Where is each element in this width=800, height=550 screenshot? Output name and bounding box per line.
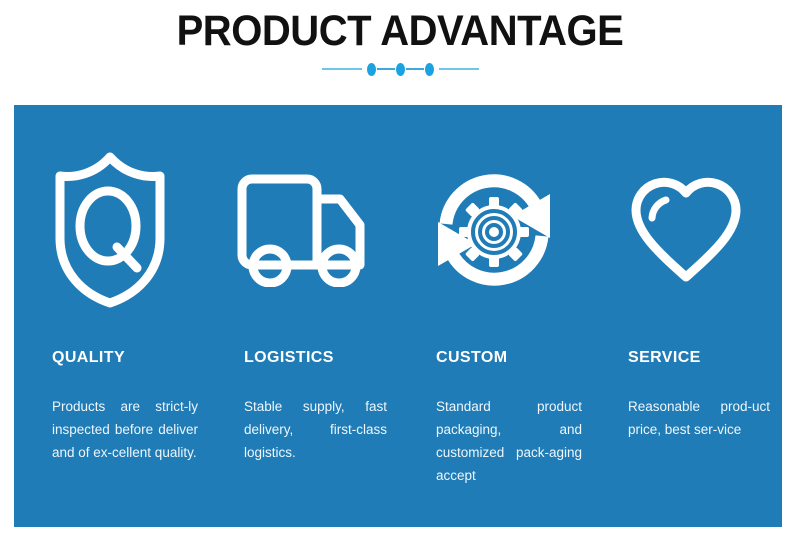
advantage-column-body: Reasonable prod-uct price, best ser-vice — [628, 395, 770, 441]
page-header: PRODUCT ADVANTAGE — [0, 0, 800, 100]
divider-gap — [362, 68, 366, 70]
advantage-panel: QUALITY Products are strict-ly inspected… — [14, 105, 782, 527]
divider-line-left — [322, 68, 362, 70]
advantage-column-custom: CUSTOM Standard product packaging, and c… — [398, 105, 590, 527]
advantage-column-body: Products are strict-ly inspected before … — [52, 395, 198, 464]
shield-quality-icon — [14, 147, 206, 312]
advantage-column-title: SERVICE — [590, 348, 782, 368]
advantage-column-body: Standard product packaging, and customiz… — [436, 395, 582, 487]
gear-cycle-icon — [398, 147, 590, 312]
divider-dot-1 — [367, 63, 376, 76]
advantage-column-service: SERVICE Reasonable prod-uct price, best … — [590, 105, 782, 527]
delivery-truck-icon — [206, 147, 398, 312]
advantage-columns: QUALITY Products are strict-ly inspected… — [14, 105, 782, 527]
advantage-column-title: QUALITY — [14, 348, 206, 368]
divider-dot-3 — [425, 63, 434, 76]
title-divider — [0, 60, 800, 78]
divider-line-mid-2 — [406, 68, 424, 70]
advantage-column-logistics: LOGISTICS Stable supply, fast delivery, … — [206, 105, 398, 527]
divider-dot-2 — [396, 63, 405, 76]
heart-icon — [590, 147, 782, 312]
divider-line-right — [439, 68, 479, 70]
advantage-column-body: Stable supply, fast delivery, first-clas… — [244, 395, 387, 464]
divider-line-mid-1 — [377, 68, 395, 70]
page-title: PRODUCT ADVANTAGE — [28, 6, 772, 56]
advantage-column-title: LOGISTICS — [206, 348, 398, 368]
advantage-column-title: CUSTOM — [398, 348, 590, 368]
advantage-column-quality: QUALITY Products are strict-ly inspected… — [14, 105, 206, 527]
